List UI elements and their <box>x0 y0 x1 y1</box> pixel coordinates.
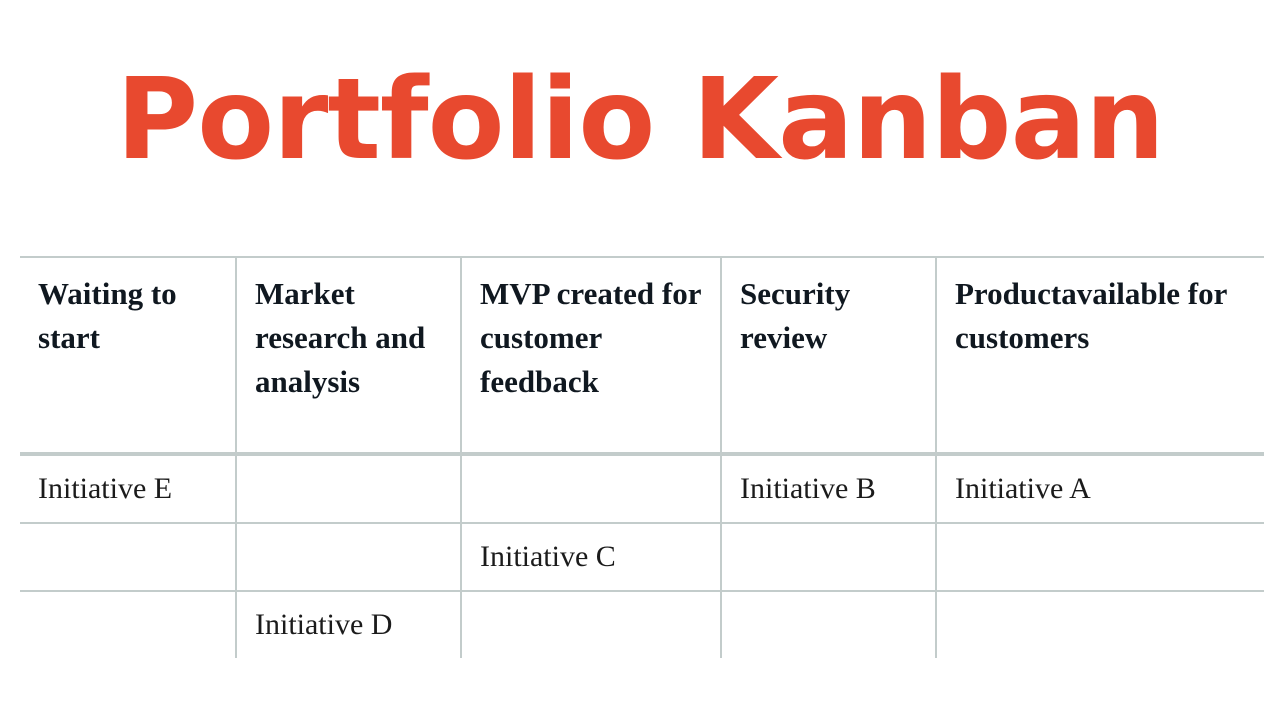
kanban-card-label <box>955 606 1264 607</box>
kanban-cell[interactable]: Initiative D <box>237 590 462 658</box>
table-row: Initiative C <box>20 522 1264 590</box>
page-title: Portfolio Kanban <box>0 64 1280 176</box>
kanban-cell[interactable] <box>937 590 1264 658</box>
kanban-cell[interactable] <box>20 522 237 590</box>
kanban-cell[interactable] <box>462 590 722 658</box>
kanban-card-label <box>740 538 935 539</box>
kanban-column-header-mvp-created[interactable]: MVP created for customer feedback <box>462 256 722 454</box>
kanban-cell[interactable] <box>237 454 462 522</box>
kanban-card-label: Initiative E <box>38 470 235 508</box>
table-row: Initiative E Initiative B Initiative A <box>20 454 1264 522</box>
kanban-column-header-security-review[interactable]: Security review <box>722 256 937 454</box>
kanban-column-header-label: Productavailable for customers <box>955 272 1264 360</box>
kanban-card-label: Initiative A <box>955 470 1264 508</box>
kanban-cell[interactable]: Initiative B <box>722 454 937 522</box>
kanban-cell[interactable]: Initiative C <box>462 522 722 590</box>
kanban-cell[interactable] <box>462 454 722 522</box>
kanban-column-header-label: MVP created for customer feedback <box>480 272 720 404</box>
kanban-card-label <box>255 470 460 471</box>
kanban-card-label: Initiative C <box>480 538 720 576</box>
kanban-card-label: Initiative D <box>255 606 460 644</box>
kanban-card-label <box>480 470 720 471</box>
kanban-card-label <box>480 606 720 607</box>
kanban-column-header-waiting-to-start[interactable]: Waiting to start <box>20 256 237 454</box>
kanban-column-header-product-available[interactable]: Productavailable for customers <box>937 256 1264 454</box>
kanban-card-label: Initiative B <box>740 470 935 508</box>
kanban-card-label <box>38 538 235 539</box>
kanban-cell[interactable] <box>237 522 462 590</box>
kanban-card-label <box>740 606 935 607</box>
kanban-table: Waiting to start Market research and ana… <box>20 256 1264 658</box>
kanban-cell[interactable] <box>20 590 237 658</box>
kanban-column-header-market-research[interactable]: Market research and analysis <box>237 256 462 454</box>
kanban-cell[interactable] <box>937 522 1264 590</box>
kanban-cell[interactable]: Initiative A <box>937 454 1264 522</box>
kanban-card-label <box>255 538 460 539</box>
kanban-cell[interactable]: Initiative E <box>20 454 237 522</box>
kanban-column-header-label: Waiting to start <box>38 272 235 360</box>
table-row: Initiative D <box>20 590 1264 658</box>
kanban-card-label <box>955 538 1264 539</box>
kanban-card-label <box>38 606 235 607</box>
kanban-column-header-label: Market research and analysis <box>255 272 460 404</box>
kanban-cell[interactable] <box>722 522 937 590</box>
kanban-cell[interactable] <box>722 590 937 658</box>
kanban-column-header-label: Security review <box>740 272 935 360</box>
kanban-header-row: Waiting to start Market research and ana… <box>20 256 1264 454</box>
kanban-board: Waiting to start Market research and ana… <box>20 256 1264 660</box>
